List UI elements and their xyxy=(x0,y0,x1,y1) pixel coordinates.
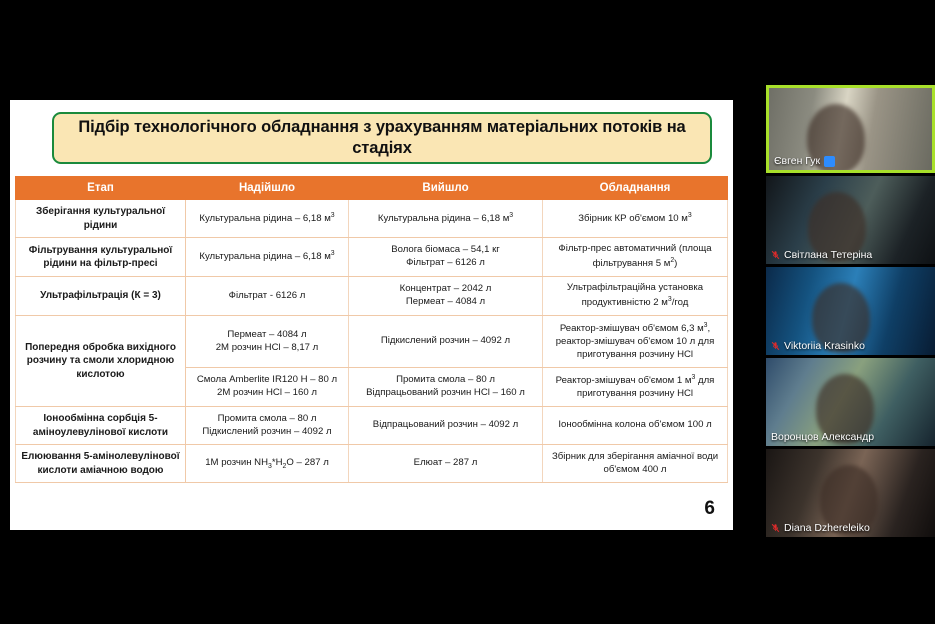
participant-name: Diana Dzhereleiko xyxy=(784,522,870,534)
cell-output: Промита смола – 80 лВідпрацьований розчи… xyxy=(349,368,543,407)
participant-name-bar: Viktoriia Krasinko xyxy=(766,340,870,352)
participant-name: Viktoriia Krasinko xyxy=(784,340,865,352)
cell-equipment: Фільтр-прес автоматичний (площа фільтрув… xyxy=(543,238,728,277)
participant-tile[interactable]: Viktoriia Krasinko xyxy=(766,267,935,355)
cell-output: Концентрат – 2042 лПермеат – 4084 л xyxy=(349,277,543,316)
cell-equipment: Збірник КР об'ємом 10 м3 xyxy=(543,200,728,238)
slide-title: Підбір технологічного обладнання з ураху… xyxy=(54,117,710,158)
table-row: Елюювання 5-амінолевулінової кислоти амі… xyxy=(16,445,728,483)
slide-title-box: Підбір технологічного обладнання з ураху… xyxy=(52,112,712,164)
participant-name: Світлана Тетеріна xyxy=(784,249,872,261)
table-header-row: Етап Надійшло Вийшло Обладнання xyxy=(16,177,728,200)
participant-tile[interactable]: Воронцов Александр xyxy=(766,358,935,446)
participant-name-bar: Diana Dzhereleiko xyxy=(766,522,875,534)
mic-muted-icon xyxy=(771,249,780,261)
material-flow-table: Етап Надійшло Вийшло Обладнання Зберіган… xyxy=(15,176,728,483)
cell-equipment: Іонообмінна колона об'ємом 100 л xyxy=(543,407,728,445)
col-header-equipment: Обладнання xyxy=(543,177,728,200)
cell-output: Відпрацьований розчин – 4092 л xyxy=(349,407,543,445)
cell-input: Культуральна рідина – 6,18 м3 xyxy=(186,238,349,277)
cell-input: Смола Amberlite IR120 H – 80 л2М розчин … xyxy=(186,368,349,407)
slide-number: 6 xyxy=(704,498,715,520)
col-header-output: Вийшло xyxy=(349,177,543,200)
cell-input: Промита смола – 80 лПідкислений розчин –… xyxy=(186,407,349,445)
mic-muted-icon xyxy=(771,340,780,352)
cell-equipment: Ультрафільтраційна установка продуктивні… xyxy=(543,277,728,316)
participant-tile[interactable]: Світлана Тетеріна xyxy=(766,176,935,264)
shared-screen-area: Підбір технологічного обладнання з ураху… xyxy=(0,0,762,624)
cell-input: Фільтрат - 6126 л xyxy=(186,277,349,316)
participant-filmstrip[interactable]: Євген ГукСвітлана ТетерінаViktoriia Kras… xyxy=(766,0,935,624)
participant-name: Воронцов Александр xyxy=(771,431,874,443)
meeting-screen-share-view: Підбір технологічного обладнання з ураху… xyxy=(0,0,935,624)
cell-stage: Іонообмінна сорбція 5-аміноулевулінової … xyxy=(16,407,186,445)
table-row: Фільтрування культуральної рідини на філ… xyxy=(16,238,728,277)
table-row: Зберігання культуральної рідиниКультурал… xyxy=(16,200,728,238)
presentation-slide: Підбір технологічного обладнання з ураху… xyxy=(10,100,733,530)
participant-tile[interactable]: Diana Dzhereleiko xyxy=(766,449,935,537)
participant-name-bar: Світлана Тетеріна xyxy=(766,249,877,261)
participant-badge-icon xyxy=(824,156,835,167)
cell-stage: Зберігання культуральної рідини xyxy=(16,200,186,238)
participant-name-bar: Воронцов Александр xyxy=(766,431,879,443)
participant-tile[interactable]: Євген Гук xyxy=(766,85,935,173)
participant-name-bar: Євген Гук xyxy=(769,155,840,167)
cell-stage: Фільтрування культуральної рідини на філ… xyxy=(16,238,186,277)
cell-input: 1М розчин NH3*H2O – 287 л xyxy=(186,445,349,483)
cell-output: Підкислений розчин – 4092 л xyxy=(349,316,543,368)
cell-equipment: Реактор-змішувач об'ємом 6,3 м3, реактор… xyxy=(543,316,728,368)
cell-stage: Попередня обробка вихідного розчину та с… xyxy=(16,316,186,407)
table-body: Зберігання культуральної рідиниКультурал… xyxy=(16,200,728,483)
cell-output: Елюат – 287 л xyxy=(349,445,543,483)
cell-output: Волога біомаса – 54,1 кгФільтрат – 6126 … xyxy=(349,238,543,277)
col-header-input: Надійшло xyxy=(186,177,349,200)
cell-equipment: Збірник для зберігання аміачної води об'… xyxy=(543,445,728,483)
participant-name: Євген Гук xyxy=(774,155,820,167)
table-row: Ультрафільтрація (К = 3)Фільтрат - 6126 … xyxy=(16,277,728,316)
cell-stage: Ультрафільтрація (К = 3) xyxy=(16,277,186,316)
cell-stage: Елюювання 5-амінолевулінової кислоти амі… xyxy=(16,445,186,483)
cell-output: Культуральна рідина – 6,18 м3 xyxy=(349,200,543,238)
cell-input: Культуральна рідина – 6,18 м3 xyxy=(186,200,349,238)
table-row: Іонообмінна сорбція 5-аміноулевулінової … xyxy=(16,407,728,445)
table-row: Попередня обробка вихідного розчину та с… xyxy=(16,316,728,368)
mic-muted-icon xyxy=(771,522,780,534)
cell-equipment: Реактор-змішувач об'ємом 1 м3 для пригот… xyxy=(543,368,728,407)
col-header-stage: Етап xyxy=(16,177,186,200)
cell-input: Пермеат – 4084 л2М розчин HCl – 8,17 л xyxy=(186,316,349,368)
